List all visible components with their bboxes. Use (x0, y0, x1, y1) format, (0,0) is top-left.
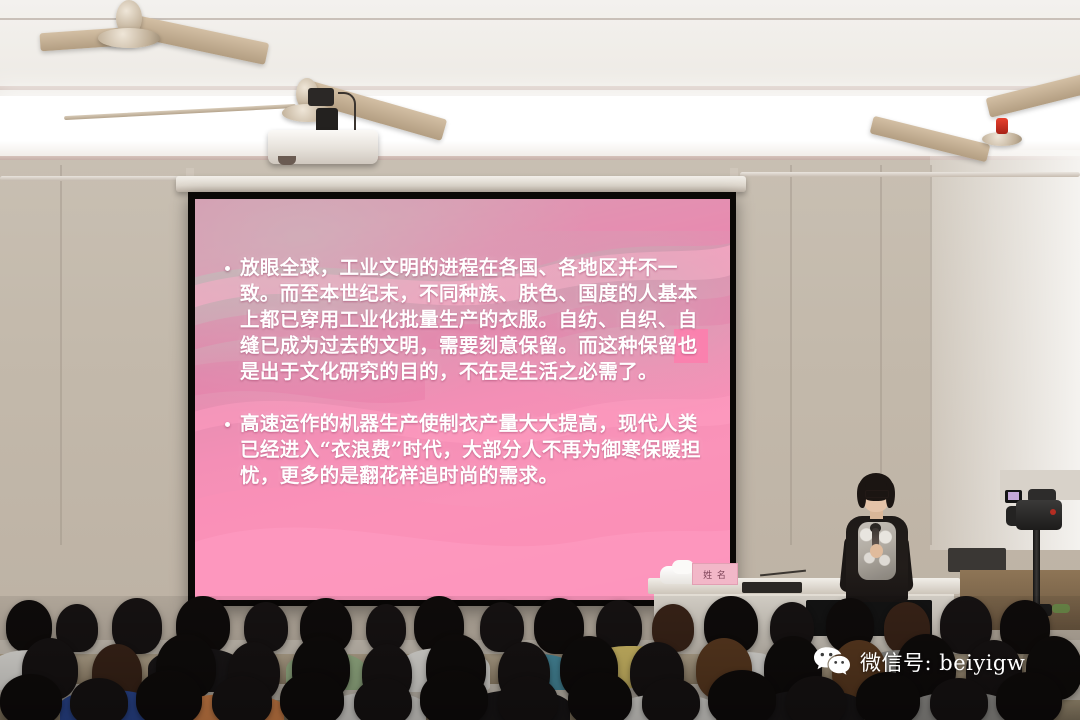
presenter-glasses (865, 490, 889, 498)
wall-panel-seam (60, 165, 62, 545)
audience-head (70, 678, 128, 720)
audience-head (498, 676, 558, 720)
bullet-dot-icon (225, 422, 230, 427)
audience-head (0, 674, 62, 720)
projection-screen-housing (176, 176, 746, 192)
audience-head (280, 672, 344, 720)
lecture-hall-screenshot: 放眼全球，工业文明的进程在各国、各地区并不一致。而至本世纪末，不同种族、肤色、国… (0, 0, 1080, 720)
audience-head (786, 676, 846, 720)
camera-record-light (1050, 509, 1056, 515)
audience-head (136, 670, 202, 720)
slide-bullet-item: 放眼全球，工业文明的进程在各国、各地区并不一致。而至本世纪末，不同种族、肤色、国… (225, 255, 704, 385)
fan-motor-housing (982, 132, 1022, 146)
audience-head (930, 678, 988, 720)
wall-rail (740, 172, 1080, 177)
audience-head (212, 676, 272, 720)
presenter-hand (870, 544, 883, 558)
wall-inset-panel (948, 548, 1006, 572)
wall-panel-seam (930, 165, 932, 545)
speaker-name-card: 姓 名 (692, 563, 738, 585)
lectern-equipment-slot (742, 582, 802, 593)
slide-bullet-item: 高速运作的机器生产使制衣产量大大提高，现代人类已经进入“衣浪费”时代，大部分人不… (225, 411, 704, 489)
wechat-watermark: 微信号: beiyigw (812, 645, 1025, 679)
ceiling-seam (0, 86, 1080, 90)
presentation-slide: 放眼全球，工业文明的进程在各国、各地区并不一致。而至本世纪末，不同种族、肤色、国… (195, 199, 730, 600)
camera-screen-display (1008, 492, 1019, 500)
audience-head (856, 672, 920, 720)
slide-bullet-text: 放眼全球，工业文明的进程在各国、各地区并不一致。而至本世纪末，不同种族、肤色、国… (240, 255, 704, 385)
wall-rail (0, 176, 200, 181)
bullet-dot-icon (225, 266, 230, 271)
speaker-name-card-text: 姓 名 (703, 568, 727, 581)
projector-mount (308, 88, 334, 106)
video-camera (1016, 500, 1062, 530)
audience-head (420, 670, 488, 720)
audience-head (568, 672, 632, 720)
audience-head (708, 670, 776, 720)
audience-head (996, 672, 1062, 720)
audience-head (354, 678, 412, 720)
slide-body: 放眼全球，工业文明的进程在各国、各地区并不一致。而至本世纪末，不同种族、肤色、国… (225, 255, 704, 515)
white-objects-on-table (672, 560, 694, 574)
fan-indicator-light (996, 118, 1008, 134)
projector-lens (278, 156, 296, 165)
wechat-logo-icon (812, 645, 852, 679)
projection-screen: 放眼全球，工业文明的进程在各国、各地区并不一致。而至本世纪末，不同种族、肤色、国… (188, 192, 736, 606)
wall-panel-seam (790, 165, 792, 545)
slide-bullet-text: 高速运作的机器生产使制衣产量大大提高，现代人类已经进入“衣浪费”时代，大部分人不… (240, 411, 704, 489)
audience-head (642, 678, 700, 720)
wechat-watermark-text: 微信号: beiyigw (860, 647, 1025, 677)
fan-motor-housing (98, 28, 160, 48)
